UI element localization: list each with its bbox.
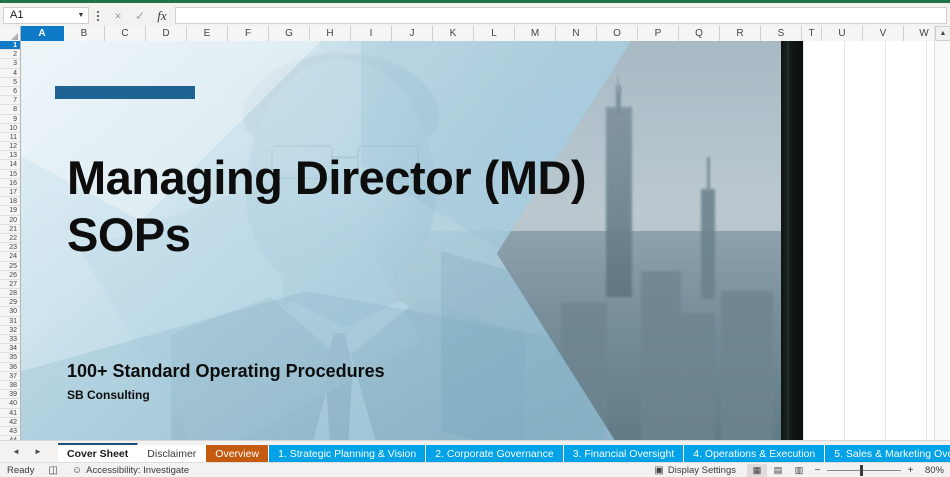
row-header-strip: 1234567891011121314151617181920212223242… (0, 41, 21, 440)
row-header-18[interactable]: 18 (0, 197, 20, 206)
row-header-6[interactable]: 6 (0, 87, 20, 96)
cover-slide-image[interactable]: Managing Director (MD) SOPs 100+ Standar… (21, 41, 803, 440)
column-header-u[interactable]: U (822, 26, 863, 41)
column-header-g[interactable]: G (269, 26, 310, 41)
column-header-h[interactable]: H (310, 26, 351, 41)
row-header-8[interactable]: 8 (0, 105, 20, 114)
row-header-39[interactable]: 39 (0, 390, 20, 399)
row-header-10[interactable]: 10 (0, 124, 20, 133)
row-header-23[interactable]: 23 (0, 243, 20, 252)
slide-organization: SB Consulting (67, 388, 150, 402)
row-header-3[interactable]: 3 (0, 59, 20, 68)
row-header-41[interactable]: 41 (0, 409, 20, 418)
zoom-slider-thumb[interactable] (860, 465, 863, 476)
second-tower (701, 189, 715, 299)
display-settings-button[interactable]: ▣ Display Settings (647, 465, 743, 476)
row-header-38[interactable]: 38 (0, 381, 20, 390)
column-header-t[interactable]: T (802, 26, 822, 41)
formula-bar: A1 ▼ × ✓ fx (0, 5, 950, 26)
row-header-7[interactable]: 7 (0, 96, 20, 105)
sheet-tab-5-sales-marketing-oversight[interactable]: 5. Sales & Marketing Oversight (825, 445, 950, 463)
column-header-n[interactable]: N (556, 26, 597, 41)
row-header-12[interactable]: 12 (0, 142, 20, 151)
row-header-25[interactable]: 25 (0, 262, 20, 271)
empire-state-spire (617, 77, 619, 93)
column-header-a[interactable]: A (21, 26, 64, 41)
second-tower-spire (707, 157, 710, 193)
sheet-tab-cover-sheet[interactable]: Cover Sheet (58, 443, 138, 463)
scroll-up-icon[interactable]: ▲ (935, 26, 950, 41)
row-header-13[interactable]: 13 (0, 151, 20, 160)
formula-bar-overflow-icon[interactable] (89, 6, 107, 25)
sheet-tab-bar: ◄ ► Cover SheetDisclaimerOverview1. Stra… (0, 440, 950, 462)
row-header-30[interactable]: 30 (0, 307, 20, 316)
row-header-28[interactable]: 28 (0, 289, 20, 298)
zoom-slider[interactable] (827, 470, 901, 471)
sheet-tab-3-financial-oversight[interactable]: 3. Financial Oversight (564, 445, 685, 463)
column-header-o[interactable]: O (597, 26, 638, 41)
macro-record-icon[interactable]: ◫ (41, 465, 64, 476)
column-header-c[interactable]: C (105, 26, 146, 41)
window-frame (781, 41, 803, 440)
row-header-16[interactable]: 16 (0, 179, 20, 188)
window-frame-highlight (787, 41, 789, 440)
cancel-entry-icon[interactable]: × (107, 6, 129, 25)
sheet-nav-buttons: ◄ ► (6, 443, 48, 461)
zoom-in-button[interactable]: + (906, 465, 915, 476)
status-bar: Ready ◫ ☺ Accessibility: Investigate ▣ D… (0, 462, 950, 477)
zoom-out-button[interactable]: − (813, 465, 822, 476)
sheet-tab-overview[interactable]: Overview (206, 445, 269, 463)
slide-title: Managing Director (MD) SOPs (67, 149, 587, 264)
column-header-j[interactable]: J (392, 26, 433, 41)
page-break-view[interactable]: ▥ (789, 464, 809, 477)
normal-view[interactable]: ▦ (747, 464, 767, 477)
sheet-tab-1-strategic-planning-vision[interactable]: 1. Strategic Planning & Vision (269, 445, 426, 463)
insert-function-icon[interactable]: fx (151, 6, 173, 25)
column-header-m[interactable]: M (515, 26, 556, 41)
row-header-26[interactable]: 26 (0, 271, 20, 280)
view-mode-buttons: ▦▤▥ (747, 464, 809, 477)
empty-cells-area (803, 41, 933, 440)
accessibility-status[interactable]: ☺ Accessibility: Investigate (65, 465, 196, 476)
sheet-tab-2-corporate-governance[interactable]: 2. Corporate Governance (426, 445, 563, 463)
row-header-31[interactable]: 31 (0, 317, 20, 326)
column-header-i[interactable]: I (351, 26, 392, 41)
row-header-43[interactable]: 43 (0, 427, 20, 436)
column-header-e[interactable]: E (187, 26, 228, 41)
sheet-nav-prev-icon[interactable]: ◄ (6, 443, 26, 461)
column-header-p[interactable]: P (638, 26, 679, 41)
select-all-corner[interactable] (0, 26, 21, 41)
column-header-d[interactable]: D (146, 26, 187, 41)
row-header-15[interactable]: 15 (0, 170, 20, 179)
column-header-k[interactable]: K (433, 26, 474, 41)
name-box[interactable]: A1 ▼ (3, 7, 89, 24)
display-settings-label: Display Settings (668, 465, 736, 476)
excel-window: A1 ▼ × ✓ fx (0, 0, 950, 477)
row-header-9[interactable]: 9 (0, 115, 20, 124)
display-settings-icon: ▣ (654, 465, 663, 476)
row-header-19[interactable]: 19 (0, 206, 20, 215)
accessibility-label: Accessibility: Investigate (86, 465, 189, 476)
row-header-37[interactable]: 37 (0, 372, 20, 381)
row-header-11[interactable]: 11 (0, 133, 20, 142)
accessibility-icon: ☺ (72, 465, 82, 476)
sheet-tab-4-operations-execution[interactable]: 4. Operations & Execution (684, 445, 825, 463)
column-header-s[interactable]: S (761, 26, 802, 41)
row-header-17[interactable]: 17 (0, 188, 20, 197)
column-header-r[interactable]: R (720, 26, 761, 41)
name-box-value: A1 (10, 8, 76, 23)
zoom-control: − + 80% (813, 465, 950, 476)
chevron-down-icon[interactable]: ▼ (76, 12, 86, 19)
title-accent-bar (55, 86, 195, 99)
zoom-level-label[interactable]: 80% (920, 465, 944, 476)
column-header-q[interactable]: Q (679, 26, 720, 41)
row-header-22[interactable]: 22 (0, 234, 20, 243)
status-ready: Ready (0, 465, 41, 476)
column-header-f[interactable]: F (228, 26, 269, 41)
row-header-24[interactable]: 24 (0, 252, 20, 261)
column-header-b[interactable]: B (64, 26, 105, 41)
worksheet-grid: Managing Director (MD) SOPs 100+ Standar… (0, 26, 950, 440)
vertical-scrollbar[interactable]: ▲ (934, 26, 950, 440)
row-header-27[interactable]: 27 (0, 280, 20, 289)
row-header-1[interactable]: 1 (0, 41, 20, 50)
confirm-entry-icon[interactable]: ✓ (129, 6, 151, 25)
row-header-20[interactable]: 20 (0, 216, 20, 225)
sheet-nav-next-icon[interactable]: ► (28, 443, 48, 461)
row-header-14[interactable]: 14 (0, 160, 20, 169)
row-header-32[interactable]: 32 (0, 326, 20, 335)
empire-state-building (606, 107, 632, 297)
row-header-36[interactable]: 36 (0, 363, 20, 372)
row-header-44[interactable]: 44 (0, 436, 20, 440)
slide-subtitle: 100+ Standard Operating Procedures (67, 361, 385, 382)
row-header-29[interactable]: 29 (0, 298, 20, 307)
column-header-strip: ABCDEFGHIJKLMNOPQRSTUVW (0, 26, 950, 41)
row-header-4[interactable]: 4 (0, 69, 20, 78)
row-header-2[interactable]: 2 (0, 50, 20, 59)
sheet-tab-disclaimer[interactable]: Disclaimer (138, 445, 206, 463)
vertical-scroll-track[interactable] (935, 41, 950, 440)
page-layout-view[interactable]: ▤ (768, 464, 788, 477)
column-header-l[interactable]: L (474, 26, 515, 41)
column-header-v[interactable]: V (863, 26, 904, 41)
row-header-35[interactable]: 35 (0, 353, 20, 362)
row-header-40[interactable]: 40 (0, 399, 20, 408)
row-header-21[interactable]: 21 (0, 225, 20, 234)
row-header-5[interactable]: 5 (0, 78, 20, 87)
status-ready-label: Ready (7, 465, 34, 476)
sheet-tab-list: Cover SheetDisclaimerOverview1. Strategi… (58, 441, 950, 463)
row-header-42[interactable]: 42 (0, 418, 20, 427)
formula-input[interactable] (175, 7, 947, 24)
row-header-33[interactable]: 33 (0, 335, 20, 344)
row-header-34[interactable]: 34 (0, 344, 20, 353)
